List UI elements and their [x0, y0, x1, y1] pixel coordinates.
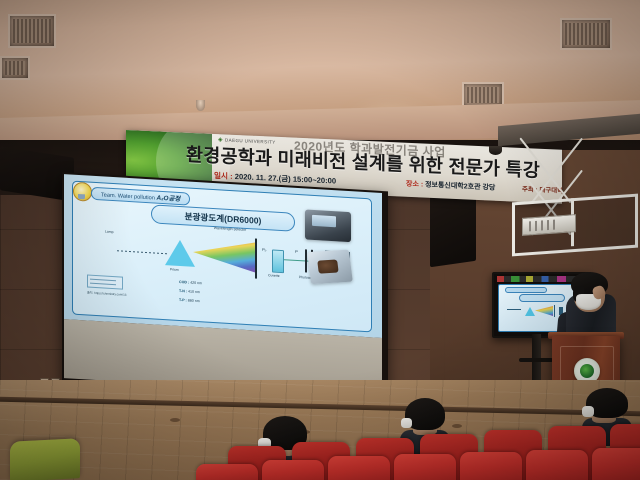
seat[interactable]: [592, 448, 640, 480]
sprinkler-icon: [196, 100, 205, 111]
slide-process-name: A₂O공정: [156, 195, 180, 203]
seat[interactable]: [262, 460, 324, 480]
face-mask-icon: [401, 418, 412, 428]
banner-date-label: 일시 :: [214, 171, 233, 181]
monitor-element: [507, 309, 521, 310]
analyte-label: T-P :: [179, 298, 187, 302]
slide-team-prefix: Team. Water pollution: [101, 192, 155, 201]
wavelength-row: T-P : 880 nm: [179, 298, 200, 303]
analyte-value: 420 nm: [190, 281, 202, 286]
lamp-legend: [87, 274, 123, 289]
projector-unit: [522, 214, 576, 236]
projected-slide: Team. Water pollution A₂O공정 분광광도계(DR6000…: [72, 181, 372, 333]
ceiling-vent: [0, 56, 30, 80]
spectrophotometer-photo: [305, 209, 351, 242]
banner-place-label: 장소 :: [406, 181, 423, 189]
dome-camera-icon: [489, 146, 502, 155]
lamp-caption: Lamp: [105, 230, 113, 235]
projection-screen: Team. Water pollution A₂O공정 분광광도계(DR6000…: [62, 172, 388, 403]
monitor-spectrum: [535, 306, 553, 316]
seat[interactable]: [460, 452, 522, 480]
wavelength-row: T-N : 410 nm: [179, 289, 200, 294]
monitor-color-bar: [497, 276, 583, 282]
ceiling-vent: [8, 14, 56, 48]
wavelength-slit: [255, 238, 257, 278]
analyte-value: 880 nm: [188, 298, 200, 303]
seat[interactable]: [526, 450, 588, 480]
lamp-icon: [73, 182, 92, 202]
seat[interactable]: [196, 464, 258, 480]
symbol-p: P: [295, 249, 298, 254]
ceiling-vent: [560, 18, 612, 50]
banner-place: 장소 : 정보통신대학2호관 강당: [406, 179, 495, 193]
spectrum-dispersion: [193, 239, 255, 273]
analyte-label: T-N :: [179, 289, 187, 293]
symbol-p0: P₀: [262, 247, 266, 252]
analyte-label: COD :: [179, 280, 189, 285]
monitor-cart-shelf: [519, 358, 553, 362]
slide-team-tab: Team. Water pollution A₂O공정: [91, 187, 190, 206]
cuvette-handling-photo: [307, 250, 353, 285]
monitor-slide-tab: [505, 287, 547, 293]
wavelength-row: COD : 420 nm: [179, 280, 202, 285]
lecture-hall-photo: ◈DAEGU UNIVERSITY 2020년도 학과발전기금 사업 환경공학과…: [0, 0, 640, 480]
light-beam: [117, 250, 169, 254]
seat[interactable]: [328, 456, 390, 480]
prism-caption: Prism: [170, 267, 179, 272]
slide-citation: 출처. https://chemistry.com/13: [87, 290, 126, 296]
cuvette-icon: [272, 249, 284, 273]
face-mask-icon: [582, 406, 594, 417]
analyte-value: 410 nm: [188, 289, 200, 294]
cuvette-caption: Cuvette: [268, 273, 280, 278]
prism-icon: [165, 239, 195, 267]
audience-seating: [0, 394, 640, 480]
seat[interactable]: [394, 454, 456, 480]
banner-place-value: 정보통신대학2호관 강당: [425, 182, 495, 192]
monitor-element: [554, 305, 555, 317]
monitor-prism-icon: [525, 307, 535, 316]
monitor-slide-title: [519, 294, 565, 302]
scissor-lift-mount: [520, 133, 596, 203]
